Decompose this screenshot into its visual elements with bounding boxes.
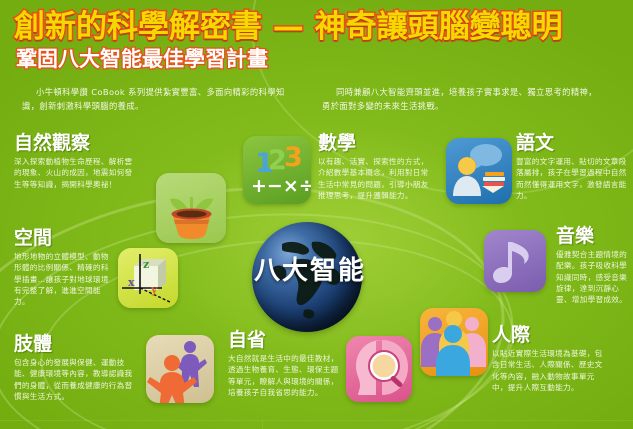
intelligence-body-language: 豐富的文字運用、貼切的文章段落屬排，孩子在學習過程中自然而然懂得運用文字，激發語…	[516, 156, 628, 201]
head-magnifier-icon	[346, 336, 412, 402]
page-subtitle: 鞏固八大智能最佳學習計畫	[0, 44, 633, 71]
intelligence-body-intrapersonal: 大自然就是生活中的最佳教材，透過生物養育、生態、環保主題等單元，瞭解人與環境的關…	[228, 353, 340, 398]
svg-text:z: z	[143, 258, 149, 271]
poster-canvas: 創新的科學解密書 — 神奇讓頭腦變聰明 鞏固八大智能最佳學習計畫 小牛頓科學讚 …	[0, 0, 633, 429]
intelligence-body-naturalist: 深入探索動植物生命歷程、解析雲的現象、火山的成因，地震如何發生等等知識，揭開科學…	[14, 156, 134, 190]
potted-plant-icon	[156, 173, 226, 243]
xyz-axes-cube-icon: z x y	[118, 248, 178, 308]
intelligence-card-bodily: 肢體 包含身心的發展與保健、運動技能、健康環境等內容，教導認識我們的身體，從而養…	[14, 334, 139, 402]
footer-divider	[0, 420, 633, 421]
numbers-123-icon: 1 2 3 +−×÷	[243, 136, 311, 204]
intelligence-card-language: 語文 豐富的文字運用、貼切的文章段落屬排，孩子在學習過程中自然而然懂得運用文字，…	[516, 133, 628, 201]
page-title: 創新的科學解密書 — 神奇讓頭腦變聰明	[0, 0, 633, 44]
intro-left-text: 小牛頓科學讚 CoBook 系列提供紮實豐富、多面向精彩的科學知識，創新刺激科學…	[22, 86, 300, 113]
footer-tick	[262, 420, 263, 429]
svg-text:+−×÷: +−×÷	[251, 175, 311, 197]
intelligence-body-interpersonal: 以貼近實際生活環境為基礎，包含日常生活、人際關係、歷史文化等內容，融入動物故事單…	[492, 348, 610, 393]
speech-bubble-books-icon	[446, 138, 512, 204]
intro-right-text: 同時兼顧八大智能齊頭並進，培養孩子實事求是、獨立思考的精神，勇於面對多變的未來生…	[322, 86, 600, 113]
intelligence-body-bodily: 包含身心的發展與保健、運動技能、健康環境等內容，教導認識我們的身體，從而養成健康…	[14, 357, 139, 402]
poster-header: 創新的科學解密書 — 神奇讓頭腦變聰明 鞏固八大智能最佳學習計畫	[0, 0, 633, 71]
intelligence-card-math: 數學 以有趣、活實、探索性的方式，介紹數學基本概念，利用對日常生活中常見的問題，…	[318, 133, 430, 201]
intelligence-title-intrapersonal: 自省	[228, 330, 340, 351]
intelligence-title-naturalist: 自然觀察	[14, 133, 134, 154]
intelligence-title-math: 數學	[318, 133, 430, 154]
intro-left-column: 小牛頓科學讚 CoBook 系列提供紮實豐富、多面向精彩的科學知識，創新刺激科學…	[0, 86, 300, 113]
svg-text:y: y	[150, 283, 158, 296]
intro-paragraphs: 小牛頓科學讚 CoBook 系列提供紮實豐富、多面向精彩的科學知識，創新刺激科學…	[0, 86, 633, 113]
intelligence-card-naturalist: 自然觀察 深入探索動植物生命歷程、解析雲的現象、火山的成因，地震如何發生等等知識…	[14, 133, 134, 190]
intelligence-body-music: 優雅契合主題情境的配樂。孩子吸收科學知識同時，感受音樂旋律，達到沉靜心靈、增加學…	[556, 249, 628, 305]
intelligence-body-math: 以有趣、活實、探索性的方式，介紹數學基本概念，利用對日常生活中常見的問題，引導小…	[318, 156, 430, 201]
svg-text:x: x	[128, 276, 135, 289]
intelligence-card-spatial: 空間 地形地物的立體模型、動物形體的比例關係、精確的科學插畫…讓孩子對地球環境有…	[14, 228, 112, 307]
intelligence-title-spatial: 空間	[14, 228, 112, 249]
intelligence-title-bodily: 肢體	[14, 334, 139, 355]
intelligence-title-music: 音樂	[556, 226, 628, 247]
svg-text:3: 3	[284, 142, 303, 173]
intelligence-title-interpersonal: 人際	[492, 325, 610, 346]
intro-right-column: 同時兼顧八大智能齊頭並進，培養孩子實事求是、獨立思考的精神，勇於面對多變的未來生…	[300, 86, 600, 113]
intelligence-card-interpersonal: 人際 以貼近實際生活環境為基礎，包含日常生活、人際關係、歷史文化等內容，融入動物…	[492, 325, 610, 393]
group-people-icon	[420, 308, 488, 376]
intelligence-title-language: 語文	[516, 133, 628, 154]
music-note-icon	[484, 230, 546, 292]
intelligence-body-spatial: 地形地物的立體模型、動物形體的比例關係、精確的科學插畫…讓孩子對地球環境有完整了…	[14, 251, 112, 307]
intelligence-card-intrapersonal: 自省 大自然就是生活中的最佳教材，透過生物養育、生態、環保主題等單元，瞭解人與環…	[228, 330, 340, 398]
intelligence-card-music: 音樂 優雅契合主題情境的配樂。孩子吸收科學知識同時，感受音樂旋律，達到沉靜心靈、…	[556, 226, 628, 305]
center-label: 八大智能	[220, 250, 400, 287]
two-people-stretch-icon	[146, 335, 214, 403]
